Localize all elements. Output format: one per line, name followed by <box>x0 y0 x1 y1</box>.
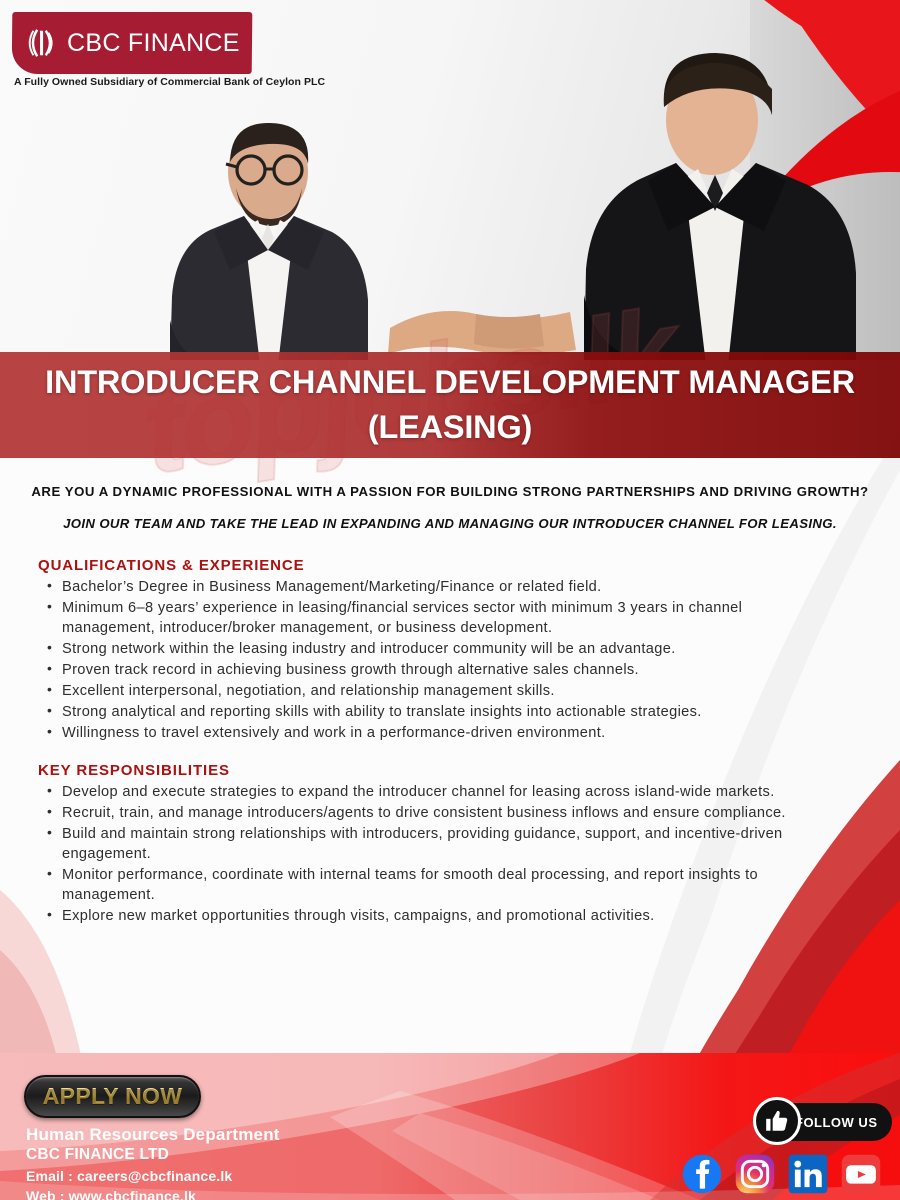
section-heading: KEY RESPONSIBILITIES <box>38 762 900 779</box>
responsibilities-list: Develop and execute strategies to expand… <box>38 782 900 927</box>
person-left-photo <box>118 120 418 360</box>
hr-email[interactable]: Email : careers@cbcfinance.lk <box>26 1166 280 1186</box>
list-item: Monitor performance, coordinate with int… <box>38 865 803 905</box>
job-description-body: ARE YOU A DYNAMIC PROFESSIONAL WITH A PA… <box>0 458 900 1058</box>
company-logo-subtitle: A Fully Owned Subsidiary of Commercial B… <box>14 76 325 88</box>
facebook-icon[interactable] <box>681 1153 723 1195</box>
hr-department: Human Resources Department <box>26 1125 280 1145</box>
job-advertisement-poster: CBC FINANCE A Fully Owned Subsidiary of … <box>0 0 900 1200</box>
company-logo-text: CBC FINANCE <box>67 29 240 58</box>
social-links <box>681 1153 882 1195</box>
cbc-bank-mark-icon <box>24 26 58 60</box>
job-title-line2: (LEASING) <box>368 405 532 450</box>
instagram-icon[interactable] <box>734 1153 776 1195</box>
tagline-call-to-action: JOIN OUR TEAM AND TAKE THE LEAD IN EXPAN… <box>18 516 882 531</box>
youtube-icon[interactable] <box>840 1153 882 1195</box>
thumbs-up-glyph <box>764 1108 790 1134</box>
thumbs-up-icon <box>753 1097 801 1145</box>
hr-website[interactable]: Web : www.cbcfinance.lk <box>26 1186 280 1200</box>
job-title-line1: INTRODUCER CHANNEL DEVELOPMENT MANAGER <box>45 360 855 405</box>
list-item: Strong analytical and reporting skills w… <box>38 702 803 722</box>
hero-photo: CBC FINANCE A Fully Owned Subsidiary of … <box>0 0 900 360</box>
apply-now-button[interactable]: APPLY NOW <box>24 1075 201 1118</box>
linkedin-icon[interactable] <box>787 1153 829 1195</box>
list-item: Excellent interpersonal, negotiation, an… <box>38 681 803 701</box>
handshake-hands <box>380 288 580 360</box>
qualifications-list: Bachelor’s Degree in Business Management… <box>38 577 900 744</box>
list-item: Recruit, train, and manage introducers/a… <box>38 803 803 823</box>
list-item: Develop and execute strategies to expand… <box>38 782 803 802</box>
person-right-photo <box>560 45 890 360</box>
section-heading: QUALIFICATIONS & EXPERIENCE <box>38 557 900 574</box>
list-item: Strong network within the leasing indust… <box>38 639 803 659</box>
contact-details: Human Resources Department CBC FINANCE L… <box>26 1125 280 1200</box>
follow-us-label: FOLLOW US <box>795 1115 878 1130</box>
job-title-banner: INTRODUCER CHANNEL DEVELOPMENT MANAGER (… <box>0 352 900 458</box>
company-logo: CBC FINANCE <box>12 12 253 74</box>
hr-company-name: CBC FINANCE LTD <box>26 1145 280 1165</box>
section-qualifications: QUALIFICATIONS & EXPERIENCE Bachelor’s D… <box>38 557 900 744</box>
list-item: Proven track record in achieving busines… <box>38 660 803 680</box>
list-item: Explore new market opportunities through… <box>38 906 803 926</box>
apply-now-label: APPLY NOW <box>43 1083 182 1110</box>
tagline-question: ARE YOU A DYNAMIC PROFESSIONAL WITH A PA… <box>28 482 872 502</box>
list-item: Bachelor’s Degree in Business Management… <box>38 577 803 597</box>
list-item: Minimum 6–8 years’ experience in leasing… <box>38 598 803 638</box>
list-item: Build and maintain strong relationships … <box>38 824 803 864</box>
section-responsibilities: KEY RESPONSIBILITIES Develop and execute… <box>38 762 900 927</box>
list-item: Willingness to travel extensively and wo… <box>38 723 803 743</box>
